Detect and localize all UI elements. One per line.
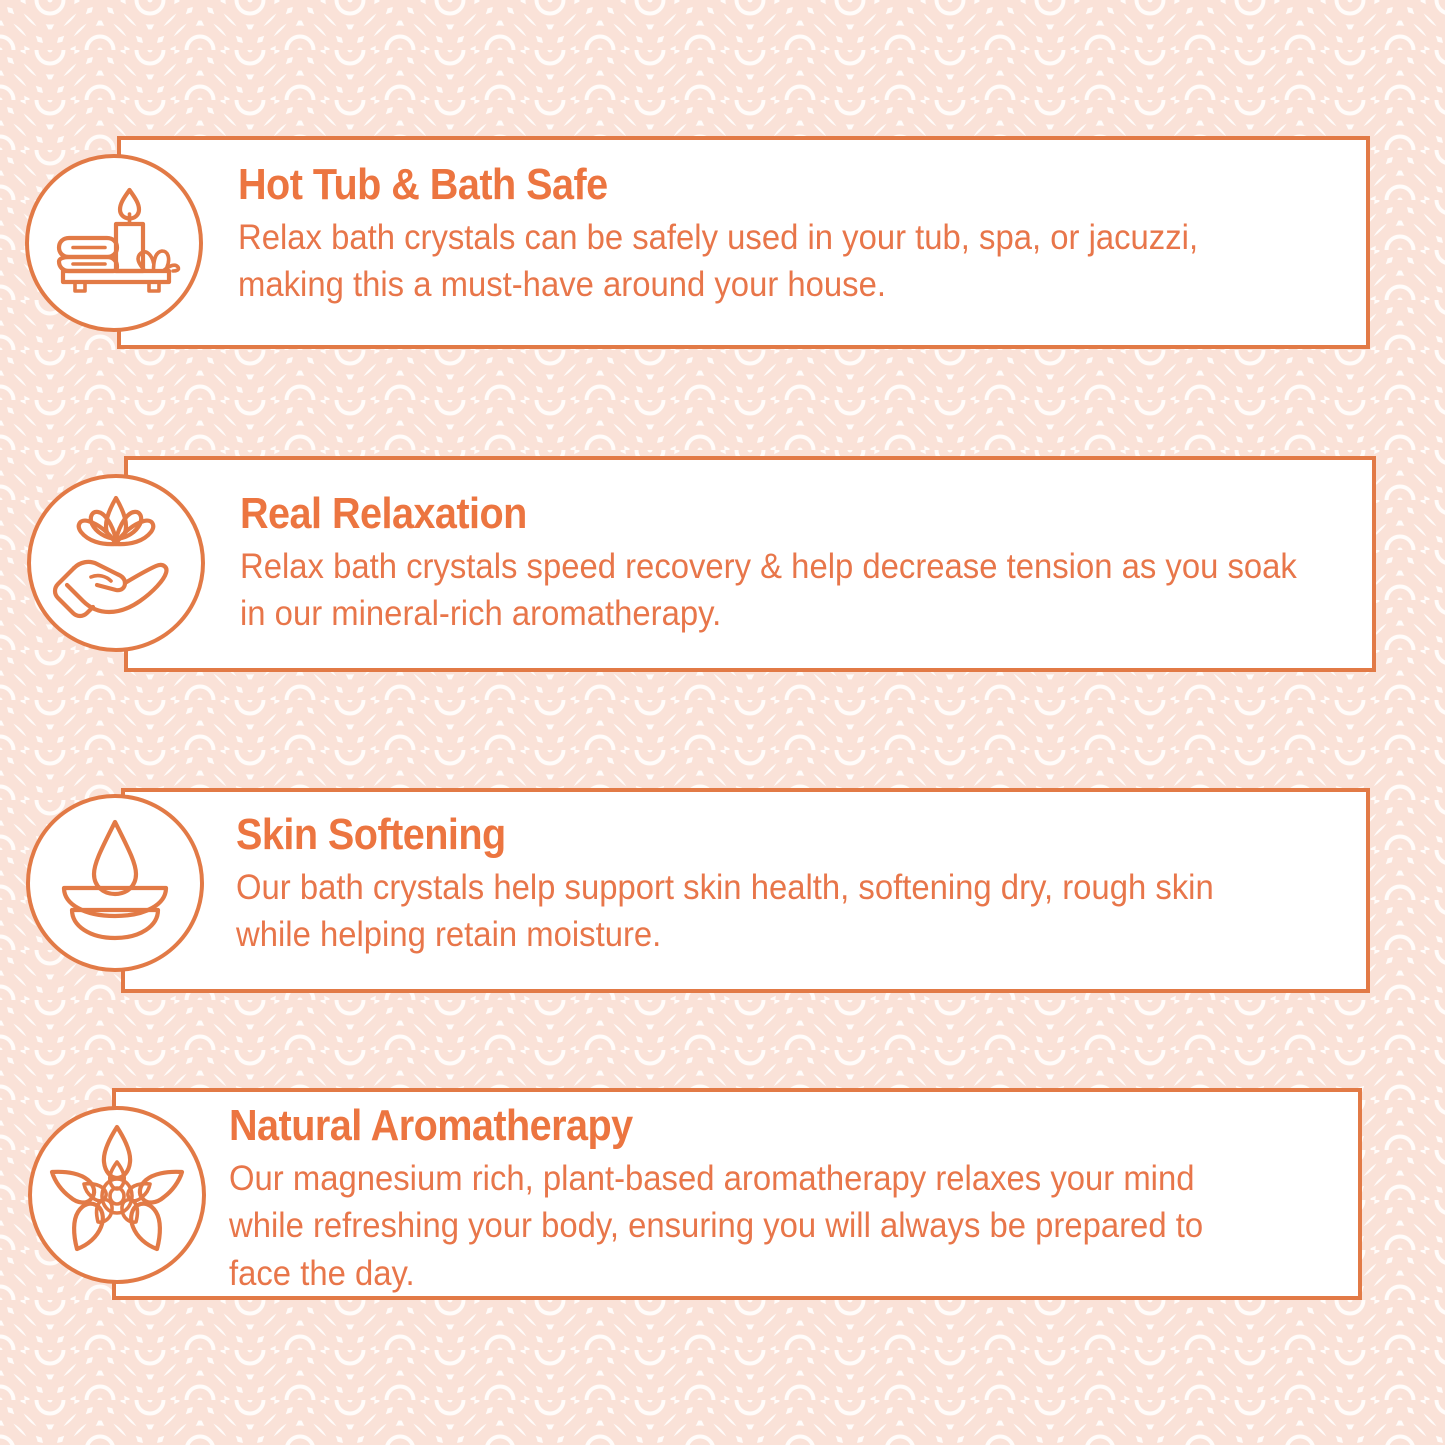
feature-body: Relax bath crystals can be safely used i…	[238, 214, 1246, 309]
icon-circle-skin-softening	[24, 792, 206, 974]
feature-card-text-hot-tub-bath-safe: Hot Tub & Bath Safe Relax bath crystals …	[238, 163, 1238, 309]
feature-card-text-skin-softening: Skin Softening Our bath crystals help su…	[236, 813, 1256, 959]
feature-list-page: Hot Tub & Bath Safe Relax bath crystals …	[0, 0, 1445, 1445]
feature-body: Our magnesium rich, plant-based aromathe…	[229, 1155, 1251, 1298]
icon-circle-natural-aromatherapy	[26, 1104, 208, 1286]
feature-title: Real Relaxation	[240, 492, 1230, 537]
feature-title: Hot Tub & Bath Safe	[238, 163, 1138, 208]
feature-title: Skin Softening	[236, 813, 1154, 858]
icon-circle-hot-tub-bath-safe	[23, 152, 205, 334]
feature-card-text-real-relaxation: Real Relaxation Relax bath crystals spee…	[240, 492, 1340, 638]
feature-body: Relax bath crystals speed recovery & hel…	[240, 543, 1299, 638]
feature-title: Natural Aromatherapy	[229, 1104, 1183, 1149]
feature-card-text-natural-aromatherapy: Natural Aromatherapy Our magnesium rich,…	[229, 1104, 1289, 1298]
icon-circle-real-relaxation	[25, 472, 207, 654]
feature-body: Our bath crystals help support skin heal…	[236, 864, 1217, 959]
